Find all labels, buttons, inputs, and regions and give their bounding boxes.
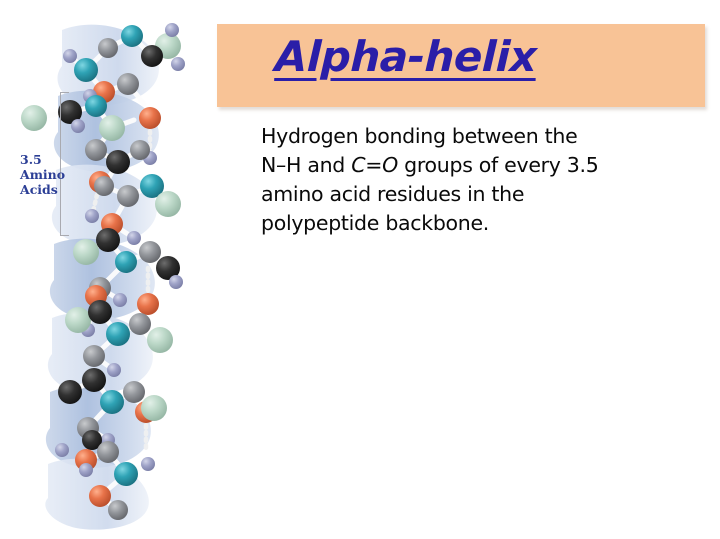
alpha-helix-diagram: 3.5 Amino Acids xyxy=(0,0,220,539)
page-title: Alpha-helix xyxy=(274,32,537,81)
helix-molecular-model xyxy=(0,0,220,539)
body-line-5: backbone. xyxy=(385,211,489,235)
span-label-line1: 3.5 xyxy=(20,152,72,167)
body-paragraph: Hydrogen bonding between the N–H and C=O… xyxy=(261,122,601,238)
amino-acid-span-label: 3.5 Amino Acids xyxy=(20,152,72,197)
title-banner: Alpha-helix xyxy=(217,24,705,107)
span-label-line2: Amino xyxy=(20,167,72,182)
body-line-2b: groups of xyxy=(398,153,498,177)
body-line-1: Hydrogen bonding between xyxy=(261,124,538,148)
body-line-2-italic: C=O xyxy=(351,153,398,177)
span-label-line3: Acids xyxy=(20,182,72,197)
slide-canvas: 3.5 Amino Acids Alpha-helix Hydrogen bon… xyxy=(0,0,720,539)
